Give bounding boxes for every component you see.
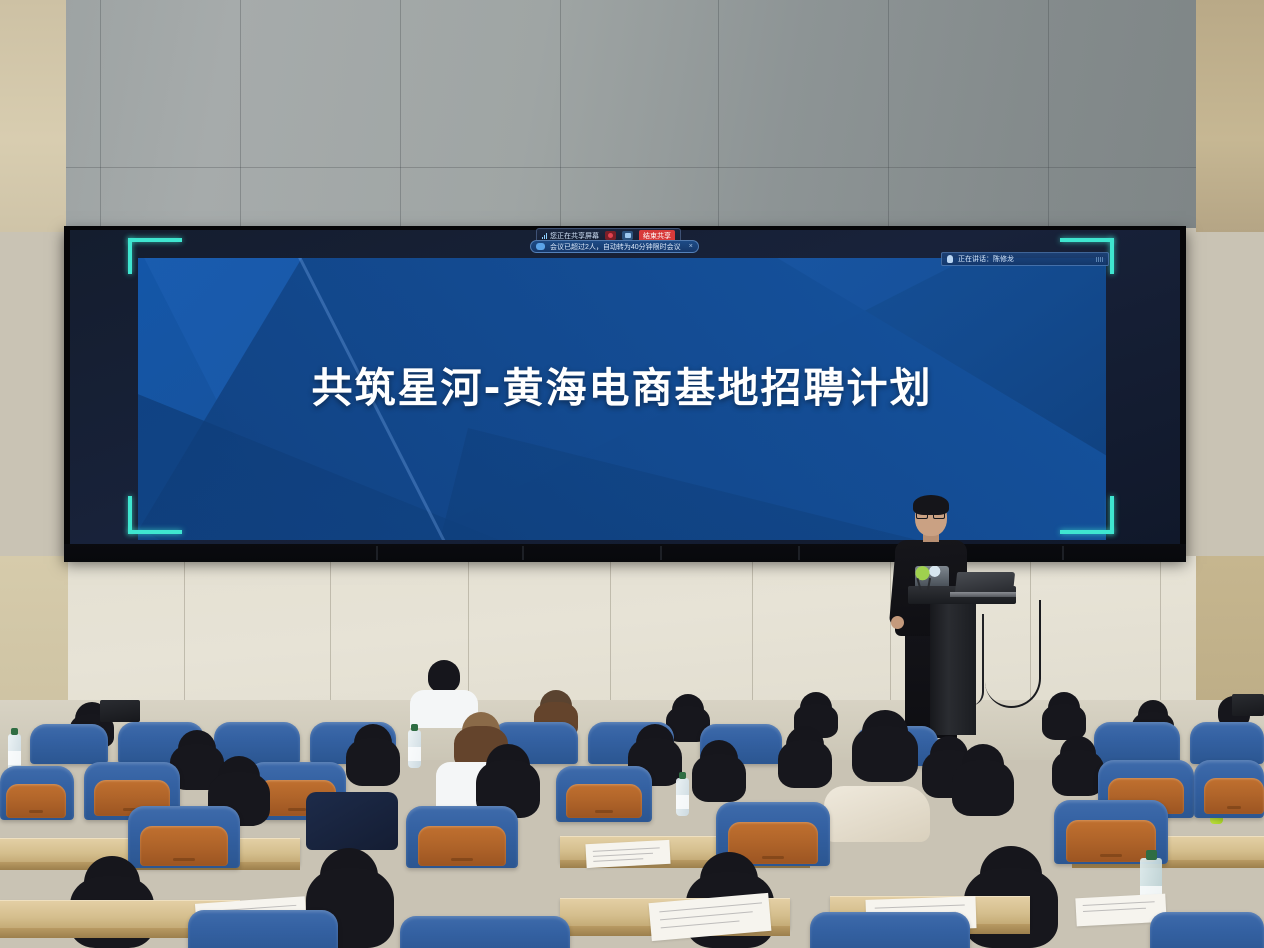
active-speaker-chip: 正在讲话：陈修龙 <box>941 252 1109 266</box>
wall-seam <box>718 0 719 228</box>
chair-wood-back <box>418 826 506 866</box>
laptop <box>1232 694 1264 716</box>
coat-on-seat <box>824 786 930 842</box>
wall-seam <box>560 0 561 228</box>
wall-seam <box>240 0 241 228</box>
chair <box>188 910 338 948</box>
chair <box>1150 912 1264 948</box>
presenter-hand <box>891 616 904 629</box>
annotate-icon[interactable] <box>605 231 616 240</box>
student-hair <box>852 726 918 782</box>
led-screen-bottom-trim <box>64 544 1186 562</box>
student-head <box>428 660 460 692</box>
water-bottle <box>676 778 689 816</box>
chair-wood-back <box>140 826 228 866</box>
student-hair <box>346 738 400 786</box>
notice-text: 会议已超过2人，自动转为40分钟限时会议 <box>550 242 681 252</box>
laptop-base <box>950 592 1016 597</box>
led-trim-seam <box>376 546 378 560</box>
remote-control-icon[interactable] <box>622 231 633 240</box>
share-status-label: 您正在共享屏幕 <box>550 231 599 241</box>
wall-seam <box>400 0 401 228</box>
meeting-duration-notice[interactable]: 会议已超过2人，自动转为40分钟限时会议 × <box>530 240 699 253</box>
chair <box>1094 722 1180 764</box>
led-trim-seam <box>522 546 524 560</box>
audio-wave-icon <box>1096 257 1103 262</box>
lecture-hall-screenshot: 共筑星河-黄海电商基地招聘计划 您正在共享屏幕 结束共享 会议已超过2人，自动转… <box>0 0 1264 948</box>
wall-seam <box>888 0 889 228</box>
student-hair <box>952 760 1014 816</box>
slide-title: 共筑星河-黄海电商基地招聘计划 <box>138 354 1106 414</box>
laptop-screen <box>955 572 1015 594</box>
chair-wood-back <box>1066 820 1156 862</box>
signal-bars-icon <box>542 233 547 239</box>
share-status: 您正在共享屏幕 <box>542 231 599 241</box>
wall-seam <box>100 0 101 228</box>
chair <box>30 724 108 764</box>
paper-handout <box>585 840 670 868</box>
power-cable <box>985 600 1041 708</box>
chair <box>810 912 970 948</box>
upper-wall <box>0 0 1264 228</box>
info-bubble-icon <box>536 243 545 250</box>
chair <box>1190 722 1264 764</box>
wall-horizontal-seam <box>66 167 1196 168</box>
backpack <box>306 792 398 850</box>
student-hair <box>692 754 746 802</box>
right-wall-panel <box>1196 0 1264 232</box>
wall-seam <box>1048 0 1049 228</box>
student-hair <box>778 740 832 788</box>
led-trim-seam <box>1062 546 1064 560</box>
water-bottle <box>408 730 421 768</box>
student-hair <box>1042 704 1086 740</box>
chair-wood-back <box>566 784 642 818</box>
led-trim-seam <box>798 546 800 560</box>
microphone-icon <box>947 255 953 263</box>
laptop <box>100 700 140 722</box>
glasses-icon <box>915 512 947 519</box>
chair <box>214 722 300 764</box>
chair <box>400 916 570 948</box>
gooseneck-microphone <box>916 578 942 590</box>
active-speaker-label: 正在讲话：陈修龙 <box>958 254 1014 264</box>
student-hair <box>1052 750 1104 796</box>
chair-wood-back <box>1204 778 1264 814</box>
close-icon[interactable]: × <box>686 243 693 250</box>
left-wall-panel <box>0 0 66 232</box>
chair-wood-back <box>6 784 66 818</box>
led-trim-seam <box>660 546 662 560</box>
power-cable <box>962 614 984 706</box>
